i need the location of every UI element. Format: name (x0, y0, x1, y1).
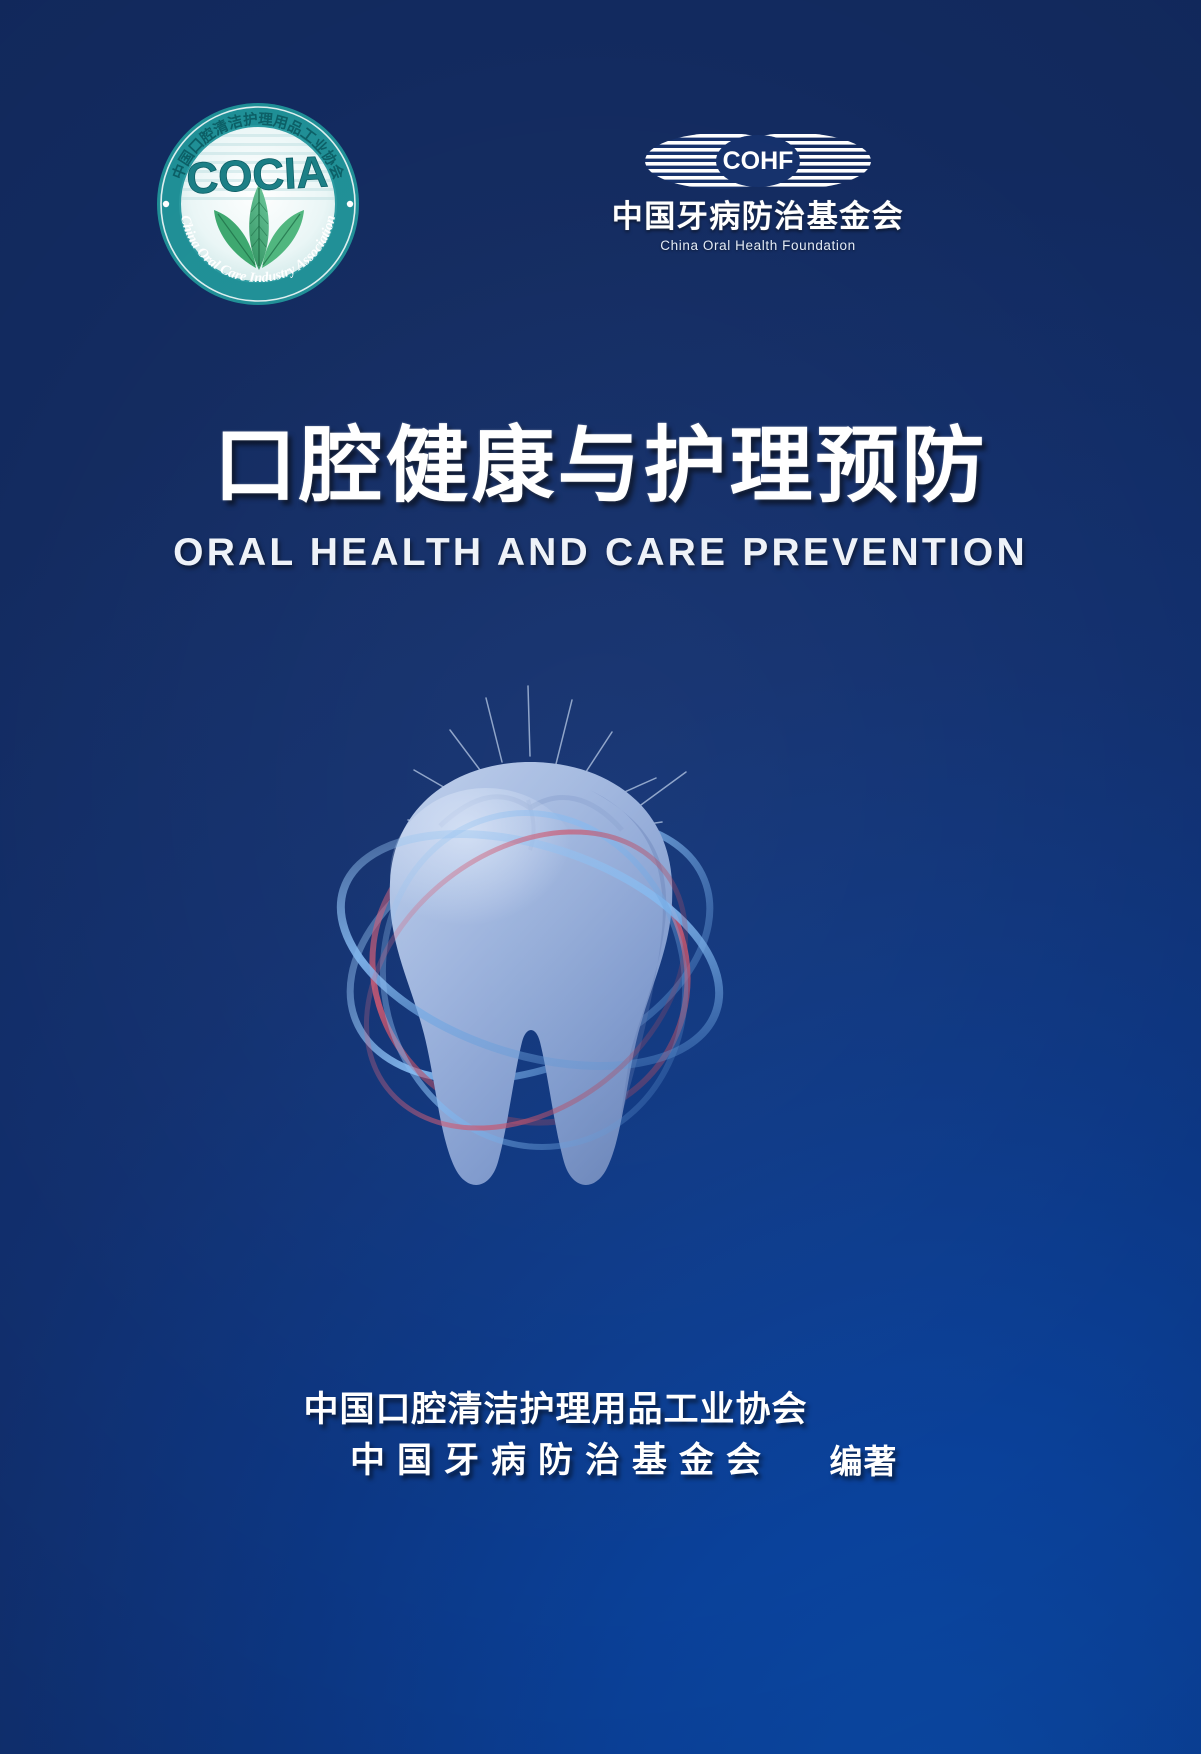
tooth-svg (290, 650, 770, 1210)
cocia-dot-left (163, 201, 169, 207)
logo-row: COCIA 中国口腔清洁护理用品工业协会 China Oral Care Ind… (0, 0, 1201, 310)
book-cover: COCIA 中国口腔清洁护理用品工业协会 China Oral Care Ind… (0, 0, 1201, 1754)
cohf-name-en: China Oral Health Foundation (608, 238, 908, 253)
cocia-logo-svg: COCIA 中国口腔清洁护理用品工业协会 China Oral Care Ind… (152, 98, 364, 310)
page-title-chinese: 口腔健康与护理预防 (0, 424, 1201, 507)
author-names: 中国口腔清洁护理用品工业协会 中国牙病防治基金会 (303, 1385, 807, 1487)
cohf-logo: COHF 中国牙病防治基金会 China Oral Health Foundat… (608, 130, 908, 280)
author-line-association: 中国口腔清洁护理用品工业协会 (303, 1385, 807, 1436)
cohf-name-cn: 中国牙病防治基金会 (608, 200, 908, 235)
author-line-foundation: 中国牙病防治基金会 (303, 1436, 807, 1487)
cocia-dot-right (347, 201, 353, 207)
page-title-english: ORAL HEALTH AND CARE PREVENTION (0, 531, 1201, 575)
molar-tooth-illustration (290, 650, 770, 1210)
author-role-label: 编著 (830, 1435, 898, 1487)
cohf-acronym: COHF (723, 147, 794, 175)
authors-block: 中国口腔清洁护理用品工业协会 中国牙病防治基金会 编著 (0, 1385, 1201, 1487)
cocia-acronym: COCIA (185, 147, 329, 203)
cocia-logo: COCIA 中国口腔清洁护理用品工业协会 China Oral Care Ind… (152, 98, 364, 310)
title-block: 口腔健康与护理预防 ORAL HEALTH AND CARE PREVENTIO… (0, 424, 1201, 575)
cohf-mark-icon: COHF (643, 130, 873, 192)
